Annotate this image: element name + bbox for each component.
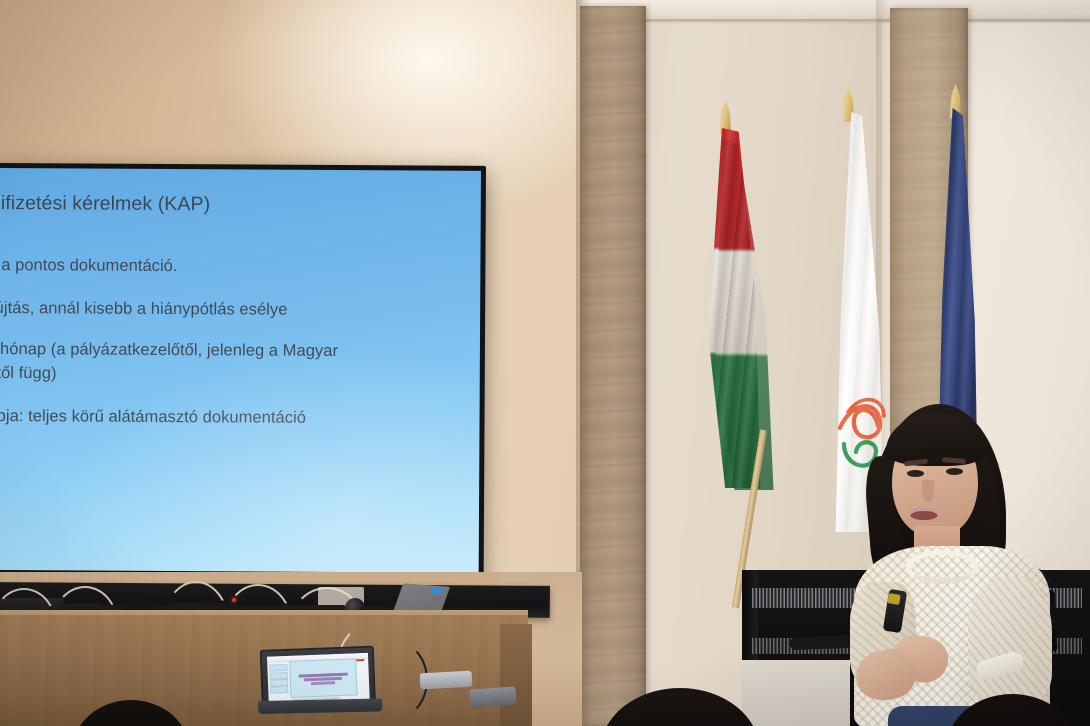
slide-bullet-4: alapja: teljes körű alátámasztó dokument… [0, 407, 306, 428]
laptop-indicator [432, 588, 441, 593]
laptop-app-accent [355, 659, 364, 662]
laptop-current-slide [289, 658, 357, 697]
microphone[interactable] [790, 635, 852, 650]
presenter-eye-left [907, 470, 924, 477]
usb-dock-secondary[interactable] [469, 686, 516, 707]
hungary-flag [700, 128, 784, 488]
tv-screen[interactable]: Kifizetési kérelmek (KAP) a a pontos dok… [0, 168, 481, 573]
credenza-side-panel [500, 624, 532, 726]
usb-dock[interactable] [420, 671, 473, 690]
laptop-screen[interactable] [267, 653, 370, 703]
laptop-slide-thumb[interactable] [270, 686, 288, 694]
laptop-slide-line [311, 681, 336, 685]
presenter-nose [922, 480, 934, 502]
slide-bullet-1: a a pontos dokumentáció. [0, 256, 178, 276]
slide-title: Kifizetési kérelmek (KAP) [0, 192, 210, 216]
presenter [848, 398, 1056, 726]
presentation-clicker-led [887, 593, 900, 605]
photo-scene: Kifizetési kérelmek (KAP) a a pontos dok… [0, 0, 1090, 726]
presentation-slide: Kifizetési kérelmek (KAP) a a pontos dok… [0, 168, 481, 573]
slide-bullet-3: . 1 hónap (a pályázatkezelőtől, jelenleg… [0, 340, 338, 361]
wall-mounted-tv[interactable]: Kifizetési kérelmek (KAP) a a pontos dok… [0, 163, 486, 578]
presenter-mouth [910, 508, 938, 520]
presenter-eye-right [946, 468, 963, 475]
presenter-laptop-base[interactable] [258, 698, 382, 714]
presenter-arm-right [968, 576, 1052, 706]
presenter-collar [906, 550, 978, 584]
ceiling-cornice [582, 19, 1090, 24]
slide-bullet-2: nyújtás, annál kisebb a hiánypótlás esél… [0, 299, 288, 320]
hungary-flag-shading [700, 128, 784, 488]
slide-bullet-3-cont: egétől függ) [0, 364, 57, 384]
lectern-panel [742, 660, 850, 726]
